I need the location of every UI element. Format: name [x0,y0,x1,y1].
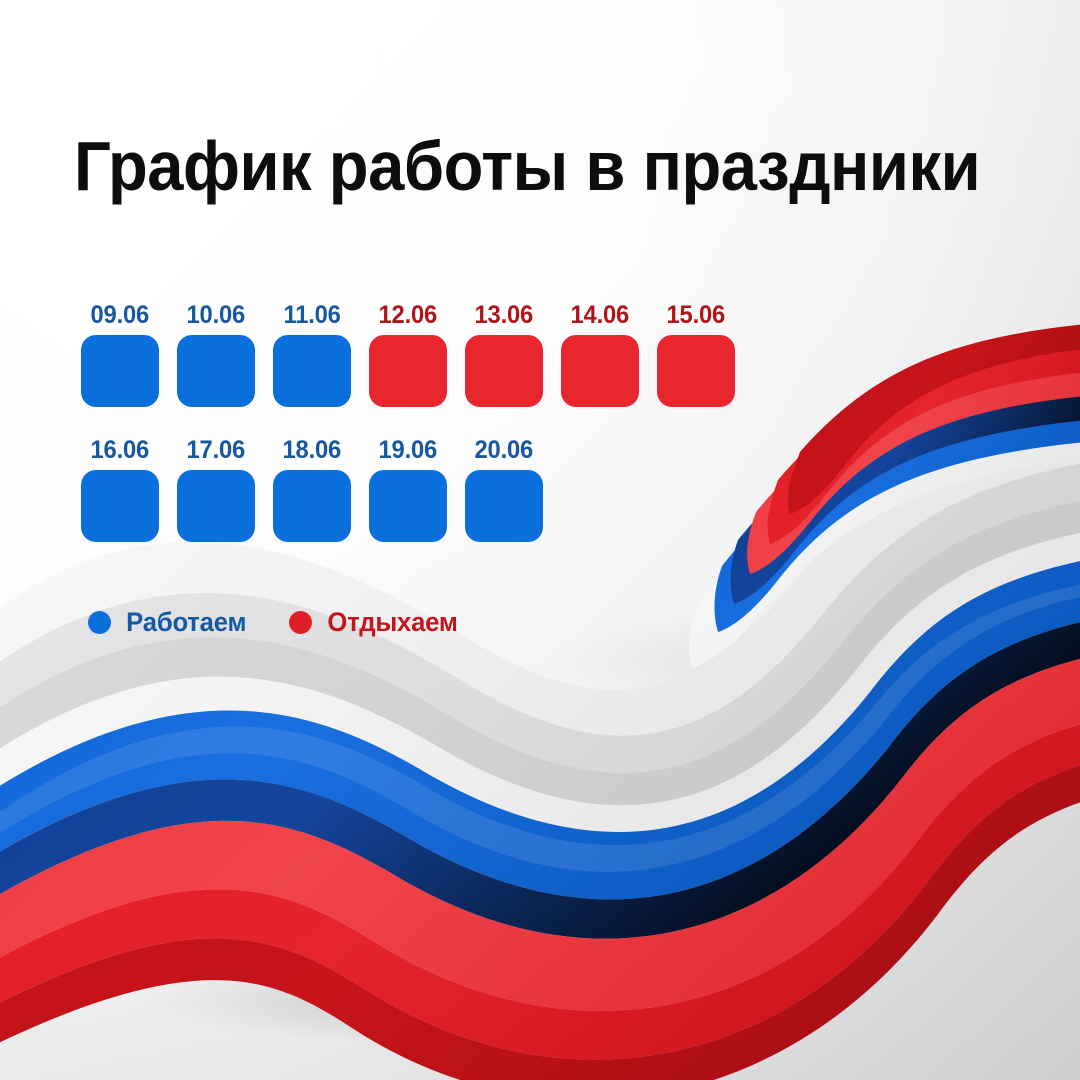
calendar-day[interactable]: 17.06 [177,437,255,542]
calendar-day-label: 12.06 [379,302,437,328]
legend-item-rest: Отдыхаем [289,608,461,636]
calendar-day-box-work[interactable] [81,470,159,542]
calendar-day-label: 14.06 [571,302,629,328]
calendar-day[interactable]: 12.06 [369,302,447,407]
calendar-day[interactable]: 19.06 [369,437,447,542]
calendar-day-box-rest[interactable] [369,335,447,407]
calendar-day-label: 09.06 [91,302,149,328]
calendar-day[interactable]: 10.06 [177,302,255,407]
legend-item-work: Работаем [88,608,249,636]
calendar-day-label: 10.06 [187,302,245,328]
calendar-day[interactable]: 13.06 [465,302,543,407]
calendar-day[interactable]: 20.06 [465,437,543,542]
legend-label-rest: Отдыхаем [328,608,458,636]
calendar-day-box-rest[interactable] [465,335,543,407]
calendar-day[interactable]: 15.06 [657,302,735,407]
poster-canvas: График работы в праздники 09.06 10.06 11… [0,0,1080,1080]
calendar-day-box-work[interactable] [273,335,351,407]
calendar-day-label: 13.06 [475,302,533,328]
calendar-day-box-work[interactable] [177,335,255,407]
calendar-day[interactable]: 16.06 [81,437,159,542]
calendar-day[interactable]: 09.06 [81,302,159,407]
calendar-row-2: 16.06 17.06 18.06 19.06 20.06 [81,437,543,542]
calendar-day-label: 15.06 [667,302,725,328]
calendar-day-box-rest[interactable] [561,335,639,407]
page-title: График работы в праздники [74,131,980,201]
calendar-day-box-work[interactable] [177,470,255,542]
legend: Работаем Отдыхаем [88,608,462,636]
calendar-day-label: 19.06 [379,437,437,463]
calendar-day-box-work[interactable] [369,470,447,542]
calendar-day-label: 16.06 [91,437,149,463]
calendar-day-label: 17.06 [187,437,245,463]
calendar-day-label: 20.06 [475,437,533,463]
calendar-day-box-work[interactable] [465,470,543,542]
calendar-day-label: 11.06 [283,302,340,328]
legend-label-work: Работаем [126,608,246,636]
calendar-row-1: 09.06 10.06 11.06 12.06 13.06 14.06 [81,302,735,407]
calendar-day[interactable]: 14.06 [561,302,639,407]
calendar-day-box-work[interactable] [273,470,351,542]
calendar-day[interactable]: 18.06 [273,437,351,542]
calendar-day-box-rest[interactable] [657,335,735,407]
legend-dot-work-icon [88,611,111,634]
calendar-day-box-work[interactable] [81,335,159,407]
legend-dot-rest-icon [289,611,312,634]
calendar-day-label: 18.06 [283,437,341,463]
calendar-day[interactable]: 11.06 [273,302,351,407]
poster-content: График работы в праздники 09.06 10.06 11… [0,0,1080,1080]
